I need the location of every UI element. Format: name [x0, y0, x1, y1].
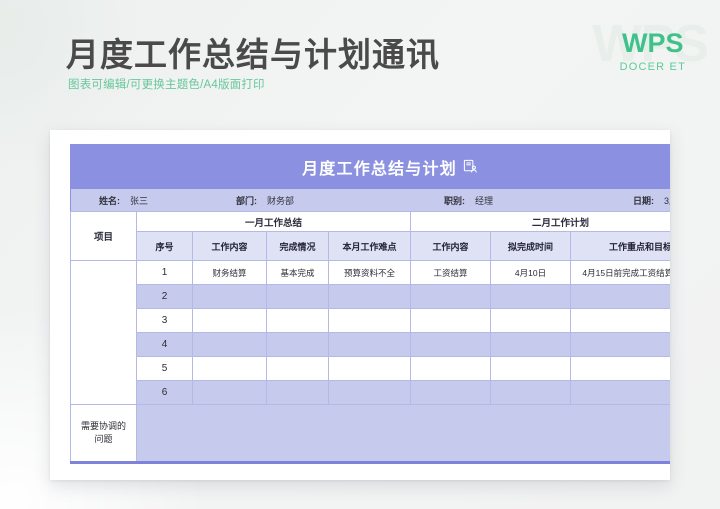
wps-logo-subtitle: DOCER ET	[620, 62, 686, 73]
cell-feb-content[interactable]	[411, 357, 491, 381]
column-header-project: 项目	[71, 212, 137, 261]
info-field-department: 部门: 财务部	[236, 194, 294, 207]
cell-jan-difficulty[interactable]	[329, 333, 411, 357]
sheet-title: 月度工作总结与计划	[302, 155, 457, 179]
column-header-jan-status: 完成情况	[267, 232, 329, 261]
cell-feb-due[interactable]	[491, 285, 571, 309]
info-value-department[interactable]: 财务部	[267, 194, 294, 207]
cell-jan-content[interactable]: 财务结算	[193, 261, 267, 285]
table-row: 4	[71, 333, 671, 357]
column-header-feb-due: 拟完成时间	[491, 232, 571, 261]
cell-jan-status[interactable]	[267, 357, 329, 381]
cell-feb-due[interactable]: 4月10日	[491, 261, 571, 285]
info-field-date: 日期: 3月	[633, 194, 670, 207]
cell-feb-goal[interactable]	[571, 309, 670, 333]
info-value-date[interactable]: 3月	[664, 194, 670, 207]
page-title: 月度工作总结与计划通讯	[66, 28, 440, 76]
coordination-issues-value[interactable]	[137, 405, 671, 463]
cell-seq[interactable]: 6	[137, 381, 193, 405]
table-row: 3	[71, 309, 671, 333]
table-row: 1 财务结算 基本完成 预算资料不全 工资结算 4月10日 4月15日前完成工资…	[71, 261, 671, 285]
coordination-issues-row: 需要协调的问题	[71, 405, 671, 463]
cell-seq[interactable]: 5	[137, 357, 193, 381]
sheet-title-bar: 月度工作总结与计划	[70, 144, 670, 189]
cell-jan-difficulty[interactable]	[329, 285, 411, 309]
cell-feb-content[interactable]	[411, 381, 491, 405]
group-header-january: 一月工作总结	[137, 212, 411, 232]
wps-logo-mark: WPS	[620, 30, 686, 57]
page-subtitle: 图表可编辑/可更换主题色/A4版面打印	[68, 76, 265, 92]
cell-seq[interactable]: 4	[137, 333, 193, 357]
cell-feb-content[interactable]	[411, 309, 491, 333]
table-row: 5	[71, 357, 671, 381]
cell-project-value[interactable]	[71, 261, 137, 405]
wps-logo: WPS DOCER ET	[620, 30, 686, 73]
cell-seq[interactable]: 3	[137, 309, 193, 333]
cell-feb-content[interactable]	[411, 333, 491, 357]
cell-seq[interactable]: 1	[137, 261, 193, 285]
info-bar: 姓名: 张三 部门: 财务部 职别: 经理 日期: 3月	[70, 189, 670, 211]
cell-jan-difficulty[interactable]	[329, 309, 411, 333]
column-header-jan-content: 工作内容	[193, 232, 267, 261]
cell-feb-goal[interactable]	[571, 381, 670, 405]
cell-jan-content[interactable]	[193, 381, 267, 405]
table-row: 6	[71, 381, 671, 405]
cell-feb-due[interactable]	[491, 381, 571, 405]
column-header-feb-goal: 工作重点和目标	[571, 232, 670, 261]
cell-jan-content[interactable]	[193, 357, 267, 381]
cell-jan-difficulty[interactable]	[329, 357, 411, 381]
work-summary-table: 项目 一月工作总结 二月工作计划 序号 工作内容 完成情况 本月工作难点 工作内…	[70, 211, 670, 464]
cell-jan-difficulty[interactable]: 预算资料不全	[329, 261, 411, 285]
cell-feb-goal[interactable]	[571, 333, 670, 357]
cell-feb-due[interactable]	[491, 357, 571, 381]
table-group-header-row: 项目 一月工作总结 二月工作计划	[71, 212, 671, 232]
cell-jan-content[interactable]	[193, 309, 267, 333]
info-field-name: 姓名: 张三	[99, 194, 148, 207]
cell-feb-due[interactable]	[491, 333, 571, 357]
info-label-department: 部门:	[236, 194, 257, 207]
group-header-february: 二月工作计划	[411, 212, 670, 232]
info-value-position[interactable]: 经理	[475, 194, 493, 207]
info-label-name: 姓名:	[99, 194, 120, 207]
cell-feb-goal[interactable]	[571, 285, 670, 309]
cell-feb-due[interactable]	[491, 309, 571, 333]
column-header-feb-content: 工作内容	[411, 232, 491, 261]
info-field-position: 职别: 经理	[444, 194, 493, 207]
cell-feb-goal[interactable]	[571, 357, 670, 381]
cell-seq[interactable]: 2	[137, 285, 193, 309]
column-header-seq: 序号	[137, 232, 193, 261]
cell-jan-content[interactable]	[193, 333, 267, 357]
cell-feb-goal[interactable]: 4月15日前完成工资结算和下发	[571, 261, 670, 285]
cell-jan-status[interactable]: 基本完成	[267, 261, 329, 285]
column-header-jan-difficulty: 本月工作难点	[329, 232, 411, 261]
cell-feb-content[interactable]	[411, 285, 491, 309]
report-person-icon	[463, 159, 478, 174]
cell-feb-content[interactable]: 工资结算	[411, 261, 491, 285]
spreadsheet: 月度工作总结与计划 姓名: 张三 部门: 财务部	[70, 144, 670, 464]
info-label-date: 日期:	[633, 194, 654, 207]
table-row: 2	[71, 285, 671, 309]
page-header: WPS WPS DOCER ET 月度工作总结与计划通讯 图表可编辑/可更换主题…	[0, 0, 720, 120]
cell-jan-status[interactable]	[267, 381, 329, 405]
info-label-position: 职别:	[444, 194, 465, 207]
cell-jan-status[interactable]	[267, 309, 329, 333]
document-card: 月度工作总结与计划 姓名: 张三 部门: 财务部	[50, 130, 670, 480]
coordination-issues-label: 需要协调的问题	[71, 405, 137, 463]
cell-jan-status[interactable]	[267, 333, 329, 357]
table-column-header-row: 序号 工作内容 完成情况 本月工作难点 工作内容 拟完成时间 工作重点和目标	[71, 232, 671, 261]
cell-jan-content[interactable]	[193, 285, 267, 309]
cell-jan-difficulty[interactable]	[329, 381, 411, 405]
info-value-name[interactable]: 张三	[130, 194, 148, 207]
cell-jan-status[interactable]	[267, 285, 329, 309]
